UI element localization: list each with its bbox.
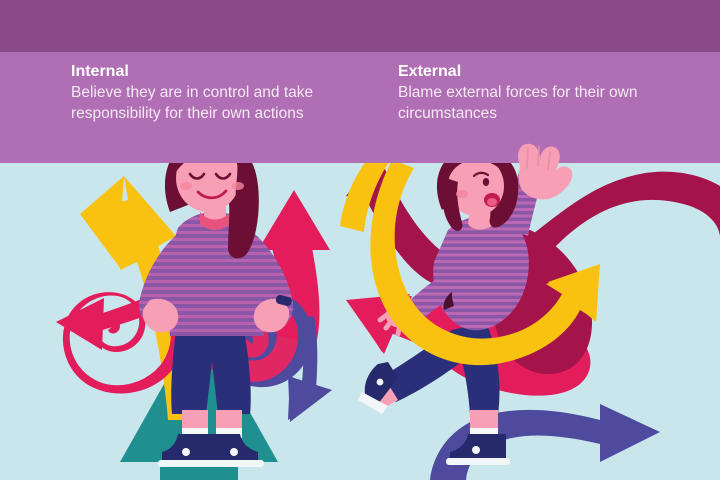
title-band — [0, 0, 720, 52]
column-external-body: Blame external forces for their own circ… — [398, 83, 708, 124]
infographic-page: Internal vs. External Locus of Control I… — [0, 0, 720, 480]
column-external: External Blame external forces for their… — [398, 62, 708, 125]
column-internal-heading: Internal — [71, 62, 381, 82]
column-external-heading: External — [398, 62, 708, 82]
column-internal-body: Believe they are in control and take res… — [71, 83, 381, 124]
column-internal: Internal Believe they are in control and… — [71, 62, 381, 125]
